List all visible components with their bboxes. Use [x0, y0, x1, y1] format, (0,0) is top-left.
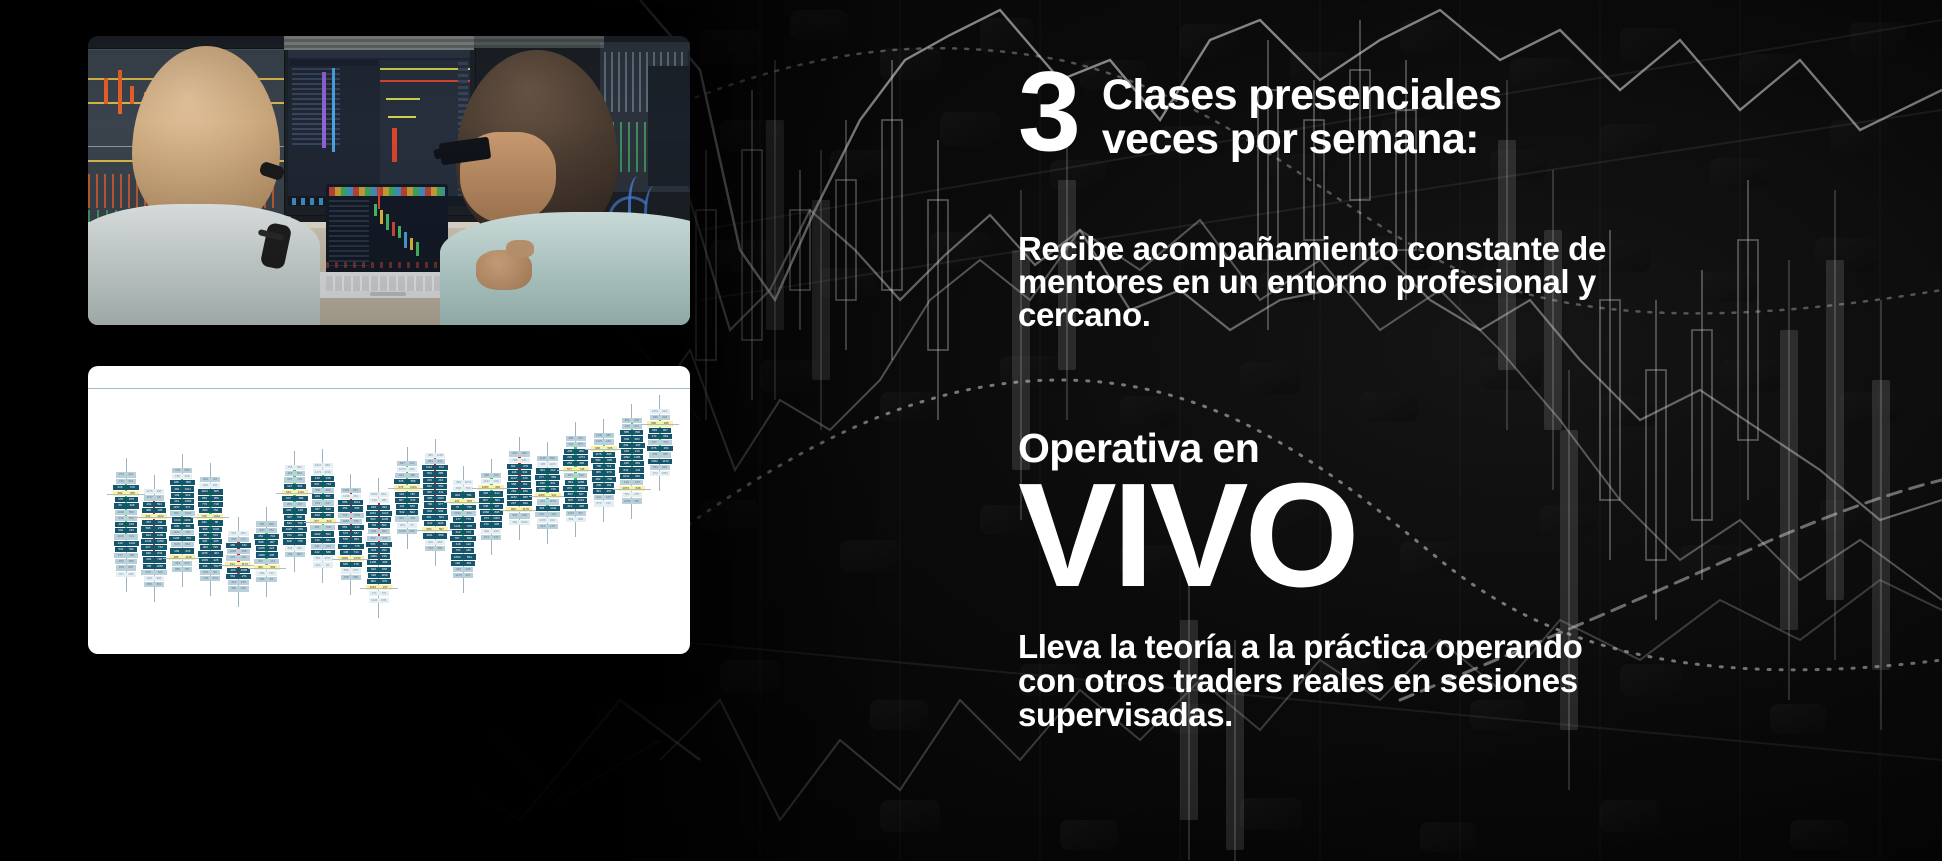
footprint-cell: 60519	[199, 533, 221, 538]
paragraph-mentoring-line-1: Recibe acompañamiento constante de	[1018, 232, 1788, 265]
paragraph-mentoring: Recibe acompañamiento constante de mento…	[1018, 232, 1788, 331]
footprint-cell: 590895	[591, 458, 616, 463]
headline-lines: Clases presenciales veces por semana:	[1102, 62, 1502, 162]
footprint-column: 1027353117111991462488017199564602445572…	[310, 449, 336, 582]
footprint-cell: 942191	[200, 483, 220, 488]
footprint-cell: 73796	[451, 505, 476, 510]
footprint-cell: 640768	[284, 521, 306, 526]
footprint-cell: 144787	[395, 492, 418, 497]
footprint-cell: 628844	[142, 551, 166, 556]
footprint-cell: 429355	[649, 452, 671, 457]
footprint-column: 3834331015732962502991074253483577745253…	[563, 422, 589, 537]
footprint-cell: 965973	[592, 470, 615, 475]
footprint-column: 1181857114625168510144593357391183108376…	[338, 474, 364, 595]
footprint-cell: 305331	[423, 490, 447, 495]
footprint-cell: 1083766	[340, 519, 362, 524]
footprint-cell: 744641	[311, 538, 335, 543]
footprint-column: 5472642931742807321008296207121194117346…	[225, 517, 251, 607]
footprint-cell: 113504	[284, 484, 306, 489]
footprint-cell: 32393	[313, 562, 333, 567]
footprint-cell: 532602	[396, 510, 418, 515]
footprint-column: 7585056607512527048989671045223100820576…	[254, 507, 280, 597]
footprint-cell: 952939	[367, 536, 392, 541]
footprint-cell: 1175182	[594, 439, 614, 444]
footprint-cell: 968911	[507, 482, 531, 487]
footprint-cell: 442538	[311, 550, 335, 555]
footprint-poc-tick	[304, 522, 342, 523]
footprint-cell: 92475	[397, 523, 417, 528]
footprint-cell: 486105	[142, 508, 166, 513]
footprint-cell: 364481	[395, 516, 419, 521]
footprint-cell: 1010248	[397, 529, 417, 534]
footprint-cell: 383433	[566, 436, 586, 441]
text-column: 3 Clases presenciales veces por semana: …	[1018, 0, 1838, 861]
footprint-poc-tick	[135, 517, 173, 518]
footprint-poc-tick	[444, 502, 482, 503]
footprint-column: 1129556185110539421027755643960111807281…	[535, 442, 561, 544]
footprint-cell: 673537	[339, 531, 362, 536]
footprint-cell: 1155464	[198, 551, 223, 556]
footprint-cell: 439601	[536, 481, 559, 486]
footprint-cell: 1008205	[256, 552, 278, 557]
footprint-cell: 170875	[115, 497, 138, 502]
footprint-cell: 898967	[255, 540, 279, 545]
footprint-cell: 5931045	[366, 517, 391, 522]
footprint-cell: 894956	[198, 496, 223, 501]
footprint-cell: 171772	[369, 591, 389, 596]
footprint-cell: 438769	[199, 564, 222, 569]
footprint-cell: 653627	[564, 492, 588, 497]
footprint-cell: 1108641	[114, 534, 138, 539]
footprint-cell: 769460	[535, 512, 561, 517]
footprint-poc-tick	[416, 530, 454, 531]
footprint-cell: 383614	[479, 491, 503, 496]
footprint-cell: 911153	[594, 495, 614, 500]
footprint-cell: 657578	[395, 498, 419, 503]
footprint-cell: 159994	[144, 576, 164, 581]
footprint-cell: 545556	[394, 479, 419, 484]
footprint-cell: 810750	[451, 492, 475, 497]
footprint-cell: 4851189	[425, 453, 445, 458]
footprint-cell: 823293	[368, 548, 390, 553]
paragraph-practice-line-3: supervisadas.	[1018, 698, 1808, 732]
footprint-cell: 1131707	[566, 511, 586, 516]
footprint-cell: 832550	[423, 484, 447, 489]
footprint-cell: 700977	[424, 502, 447, 507]
footprint-column: 7545634185643192991135046431110107489256…	[282, 451, 308, 572]
footprint-cell: 1173467	[453, 573, 473, 578]
footprint-cell: 1045223	[256, 546, 278, 551]
paragraph-mentoring-line-2: mentores en un entorno profesional y	[1018, 265, 1788, 298]
footprint-cell: 758505	[256, 521, 276, 526]
footprint-cell: 764802	[368, 523, 390, 528]
footprint-cell: 4231100	[537, 499, 559, 504]
footprint-cell: 302949	[481, 529, 501, 534]
footprint-cell: 323678	[367, 567, 390, 572]
paragraph-practice-line-2: con otros traders reales en sesiones	[1018, 664, 1808, 698]
footprint-cell: 848333	[368, 529, 390, 534]
footprint-cell: 907536	[284, 515, 305, 520]
footprint-cell: 10611023	[366, 511, 391, 516]
footprint-cell: 171662	[648, 434, 672, 439]
footprint-cell: 532791	[115, 547, 137, 552]
footprint-cell: 10921186	[621, 455, 643, 460]
footprint-cell: 1008296	[227, 549, 251, 554]
footprint-cell: 101573	[566, 442, 586, 447]
footprint-cell: 547264	[228, 531, 248, 536]
footprint-cell: 903570	[367, 579, 391, 584]
footprint-cell: 100865	[425, 540, 445, 545]
footprint-column: 6977141079264942486545556578102314478765…	[394, 447, 420, 549]
footprint-chart: 2743117339613153703993351708756892610935…	[88, 366, 690, 654]
footprint-cell: 6851014	[338, 500, 363, 505]
footprint-cell: 2991074	[563, 455, 588, 460]
headline-block: 3 Clases presenciales veces por semana:	[1018, 62, 1502, 162]
footprint-cell: 162794	[453, 486, 473, 491]
footprint-cell: 762867	[285, 552, 305, 557]
footprint-cell: 548167	[479, 504, 503, 509]
footprint-cell: 311214	[311, 544, 335, 549]
footprint-cell: 280732	[226, 543, 250, 548]
footprint-cell: 457132	[142, 520, 165, 525]
footprint-cell: 320649	[228, 586, 248, 591]
footprint-cell: 7391183	[338, 513, 363, 518]
footprint-cell: 784601	[650, 465, 670, 470]
footprint-cell: 338940	[285, 546, 305, 551]
footprint-cell: 1176108	[144, 489, 164, 494]
footprint-cell: 819288	[311, 513, 334, 518]
footprint-cell: 564271	[226, 574, 250, 579]
footprint-poc-tick	[557, 470, 595, 471]
footprint-cell: 1182562	[311, 531, 334, 536]
footprint-cell: 252704	[254, 534, 279, 539]
banner-stage: 2743117339613153703993351708756892610935…	[0, 0, 1942, 861]
footprint-column: 1176108114768291594486105241110245713259…	[141, 475, 167, 602]
footprint-cell: 1093550	[115, 510, 137, 515]
footprint-cell: 1180728	[536, 487, 560, 492]
footprint-cell: 1137319	[481, 479, 501, 484]
footprint-cell: 1181857	[341, 488, 361, 493]
footprint-cell: 316112	[452, 542, 474, 547]
footprint-cell: 2841011	[171, 486, 194, 491]
footprint-cell: 1141978	[450, 523, 476, 528]
footprint-cell: 697714	[397, 461, 417, 466]
footprint-cell: 9741051	[650, 471, 670, 476]
footprint-poc-tick	[388, 488, 426, 489]
footprint-cell: 729574	[200, 576, 220, 581]
footprint-cell: 349237	[619, 443, 645, 448]
footprint-cell: 1105999	[367, 560, 392, 565]
footprint-cell: 842241	[619, 467, 644, 472]
footprint-cell: 1066156	[368, 554, 391, 559]
footprint-cell: 743405	[480, 522, 502, 527]
footprint-cell: 708441	[509, 458, 529, 463]
footprint-cell: 779718	[198, 502, 223, 507]
footprint-cell: 269930	[507, 489, 532, 494]
footprint-cell: 1050594	[451, 554, 476, 559]
footprint-cell: 277556	[535, 475, 560, 480]
footprint-cell: 254211	[425, 459, 445, 464]
footprint-poc-tick	[248, 568, 286, 569]
footprint-cell: 1124845	[369, 598, 389, 603]
footprint-poc-tick	[360, 588, 398, 589]
footprint-cell: 93288	[198, 520, 223, 525]
footprint-cell: 565533	[366, 542, 392, 547]
footprint-column: 1140486117518293859511768655908957807149…	[591, 419, 617, 521]
footprint-cell: 212178	[537, 524, 557, 529]
footprint-cell: 192481	[451, 561, 475, 566]
footprint-column: 2622951299475857689398933492371662101092…	[619, 404, 645, 519]
footprint-cell: 291594	[143, 502, 165, 507]
footprint-cell: 1146251	[341, 494, 361, 499]
footprint-cell: 158329	[172, 474, 192, 479]
paragraph-mentoring-line-3: cercano.	[1018, 298, 1788, 331]
footprint-cell: 1155162	[537, 518, 557, 523]
footprint-cell: 578354	[339, 537, 362, 542]
footprint-cell: 984907	[649, 428, 672, 433]
footprint-cell: 250589	[115, 559, 137, 564]
footprint-cell: 129947	[622, 424, 642, 429]
trading-room-photo-card	[88, 36, 690, 325]
footprint-cell: 10101169	[172, 517, 193, 522]
footprint-cell: 9651029	[199, 527, 222, 532]
footprint-cell: 6241189	[142, 533, 166, 538]
footprint-cell: 638560	[341, 575, 361, 580]
footprint-cell: 491257	[593, 489, 615, 494]
footprint-cell: 754563	[285, 465, 305, 470]
footprint-cell: 980781	[172, 567, 192, 572]
footprint-cell: 549426	[141, 570, 166, 575]
footprint-cell: 694315	[115, 528, 138, 533]
footprint-cell: 649556	[115, 516, 137, 521]
footprint-cell: 939893	[621, 436, 643, 441]
footprint-cell: 190164	[620, 480, 643, 485]
footprint-cell: 4041011	[536, 506, 560, 511]
footprint-cell: 1176865	[593, 452, 615, 457]
footprint-poc-tick	[585, 449, 623, 450]
footprint-cell: 315370	[113, 485, 139, 490]
footprint-cell: 394210	[536, 468, 558, 473]
footprint-cell: 1191650	[423, 533, 447, 538]
footprint-cell: 412279	[228, 580, 248, 585]
footprint-cell: 780714	[593, 464, 615, 469]
wordmark-vivo: VIVO	[1018, 462, 1356, 610]
footprint-cell: 243223	[115, 522, 138, 527]
footprint-cell: 935959	[170, 480, 195, 485]
footprint-cell: 1129556	[537, 456, 557, 461]
footprint-column: 6801531137319108346438361490759354816710…	[478, 459, 504, 555]
footprint-cell: 139619	[171, 493, 194, 498]
footprint-cell: 680153	[481, 473, 501, 478]
footprint-cell: 253514	[564, 473, 588, 478]
footprint-poc-tick	[163, 558, 201, 559]
footprint-cell: 403778	[338, 544, 363, 549]
footprint-cell: 801719	[311, 482, 335, 487]
footprint-cell: 801385	[423, 471, 446, 476]
footprint-cell: 240363	[171, 524, 194, 529]
footprint-cell: 602939	[423, 509, 446, 514]
footprint-cell: 1140486	[594, 433, 614, 438]
footprint-cell: 628758	[283, 539, 306, 544]
footprint-cell: 4591074	[453, 480, 473, 485]
footprint-cell: 207121	[226, 555, 250, 560]
footprint-column: 1052561133185919391106110235931045764802…	[366, 478, 392, 618]
footprint-cell: 1162391	[170, 530, 194, 535]
footprint-cell: 679217	[594, 501, 614, 506]
footprint-cell: 517636	[481, 535, 501, 540]
footprint-poc-tick	[107, 494, 145, 495]
footprint-cell: 177369	[114, 553, 138, 558]
footprint-cell: 553475	[341, 568, 361, 573]
footprint-cell: 799206	[283, 533, 306, 538]
footprint-column: 2743117339613153703993351708756892610935…	[113, 458, 139, 591]
footprint-cell: 531138	[509, 513, 529, 518]
footprint-cell: 3181144	[114, 541, 139, 546]
footprint-cell: 377435	[116, 572, 136, 577]
footprint-cell: 412348	[563, 504, 587, 509]
footprint-cell: 554168	[566, 517, 586, 522]
footprint-cell: 182702	[592, 477, 616, 482]
footprint-cell: 1068382	[622, 498, 642, 503]
footprint-cell: 1115859	[282, 527, 307, 532]
footprint-cell: 181503	[422, 515, 448, 520]
footprint-cell: 956460	[312, 488, 334, 493]
footprint-cell: 3731063	[481, 516, 502, 521]
footprint-cell: 497953	[648, 440, 673, 445]
footprint-cell: 297810	[507, 501, 532, 506]
footprint-cell: 378999	[172, 468, 192, 473]
footprint-poc-tick	[529, 496, 567, 497]
footprint-cell: 960795	[200, 545, 221, 550]
footprint-column: 9216394219111046058949567797188897567361…	[197, 463, 223, 596]
trading-room-photo	[88, 36, 690, 325]
footprint-cell: 68926	[114, 503, 139, 508]
footprint-cell: 146934	[508, 470, 531, 475]
footprint-cell: 863351	[144, 582, 164, 587]
footprint-cell: 525405	[199, 539, 222, 544]
footprint-cell: 244557	[312, 494, 334, 499]
footprint-cell: 723584	[425, 546, 445, 551]
footprint-cell: 1027353	[313, 463, 333, 468]
footprint-chart-card: 2743117339613153703993351708756892610935…	[88, 366, 690, 654]
footprint-poc-tick	[276, 493, 314, 494]
footprint-cell: 11711199	[313, 469, 333, 474]
footprint-cell: 210490	[509, 451, 529, 456]
footprint-cell: 9851026	[424, 496, 447, 501]
footprint-cell: 595276	[141, 526, 166, 531]
big-number-3: 3	[1018, 62, 1078, 161]
footprint-cell: 841276	[507, 464, 533, 469]
footprint-cell: 262295	[622, 418, 642, 423]
footprint-cell: 4191069	[170, 499, 194, 504]
footprint-poc-tick	[613, 489, 651, 490]
footprint-cell: 146248	[311, 476, 334, 481]
footprint-cell: 762114	[254, 559, 280, 564]
footprint-cell: 660751	[256, 528, 276, 533]
footprint-cell: 889756	[199, 508, 222, 513]
footprint-cell: 4631095	[227, 568, 250, 573]
footprint-cell: 1079264	[397, 467, 417, 472]
footprint-cell: 919391	[367, 505, 390, 510]
footprint-cell: 5811151	[313, 556, 333, 561]
footprint-column: 1151212835623890935984907171662497953876…	[647, 395, 673, 491]
footprint-cell: 10491058	[141, 539, 167, 544]
footprint-cell: 1107443	[508, 476, 532, 481]
footprint-cell: 315216	[423, 478, 447, 483]
footprint-cell: 876150	[647, 446, 672, 451]
footprint-cell: 8541085	[565, 480, 587, 485]
footprint-cell: 907593	[479, 498, 504, 503]
footprint-cell: 263447	[312, 500, 334, 505]
footprint-cell: 395540	[310, 525, 335, 530]
footprint-column: 4591074162794810750231605737961049560177…	[450, 466, 476, 593]
footprint-cell: 227743	[141, 545, 167, 550]
footprint-cell: 265138	[283, 508, 307, 513]
footprint-cell: 107489	[282, 496, 308, 501]
footprint-cell: 434728	[143, 557, 166, 562]
footprint-cell: 337530	[311, 507, 334, 512]
paragraph-practice-line-1: Lleva la teoría a la práctica operando	[1018, 630, 1808, 664]
footprint-cell: 8791104	[563, 486, 588, 491]
footprint-cell: 431970	[172, 561, 192, 566]
footprint-cell: 371435	[452, 548, 474, 553]
footprint-cell: 553446	[338, 525, 364, 530]
footprint-cell: 92163	[200, 477, 220, 482]
footprint-cell: 293174	[228, 537, 248, 542]
footprint-cell: 10521172	[648, 459, 671, 464]
footprint-cell: 1851105	[537, 462, 557, 467]
headline-line-2: veces por semana:	[1102, 118, 1502, 162]
footprint-cell: 319299	[284, 477, 305, 482]
footprint-cell: 212737	[452, 530, 474, 535]
footprint-poc-tick	[641, 424, 679, 425]
footprint-cell: 177770	[453, 517, 474, 522]
footprint-cell: 492128	[453, 567, 473, 572]
footprint-cell: 1041346	[620, 474, 644, 479]
footprint-cell: 253483	[563, 461, 588, 466]
footprint-column: 2104907084418412761469341107443968911269…	[506, 437, 532, 539]
footprint-cell: 1198753	[169, 536, 195, 541]
footprint-column: 3789991583299359592841011139619419106911…	[169, 454, 195, 587]
footprint-cell: 166887	[116, 565, 136, 570]
footprint-poc-tick	[472, 488, 510, 489]
footprint-cell: 1052561	[369, 492, 389, 497]
footprint-cell: 942486	[395, 473, 419, 478]
footprint-poc-tick	[219, 565, 257, 566]
footprint-cell: 418564	[285, 471, 305, 476]
footprint-cell: 29563	[256, 577, 276, 582]
footprint-cell: 50199	[200, 570, 220, 575]
footprint-cell: 6991063	[170, 511, 195, 516]
footprint-cell: 8051163	[565, 498, 587, 503]
footprint-cell: 521278	[622, 492, 642, 497]
footprint-cell: 139615	[170, 548, 194, 553]
footprint-cell: 138710	[340, 550, 362, 555]
footprint-poc-tick	[332, 559, 370, 560]
footprint-cell: 114768	[144, 495, 164, 500]
footprint-cell: 166210	[621, 449, 644, 454]
footprint-cell: 1049560	[451, 511, 476, 516]
footprint-cell: 274311	[116, 472, 136, 477]
footprint-cell: 585768	[620, 430, 643, 435]
footprint-cell: 1157971	[170, 505, 194, 510]
footprint-cell: 6421166	[424, 521, 446, 526]
footprint-cell: 1045225	[199, 558, 223, 563]
footprint-cell: 787892	[450, 536, 476, 541]
footprint-cell: 7051038	[143, 564, 166, 569]
footprint-cell: 3841099	[509, 520, 529, 525]
footprint-cell: 133185	[369, 498, 389, 503]
